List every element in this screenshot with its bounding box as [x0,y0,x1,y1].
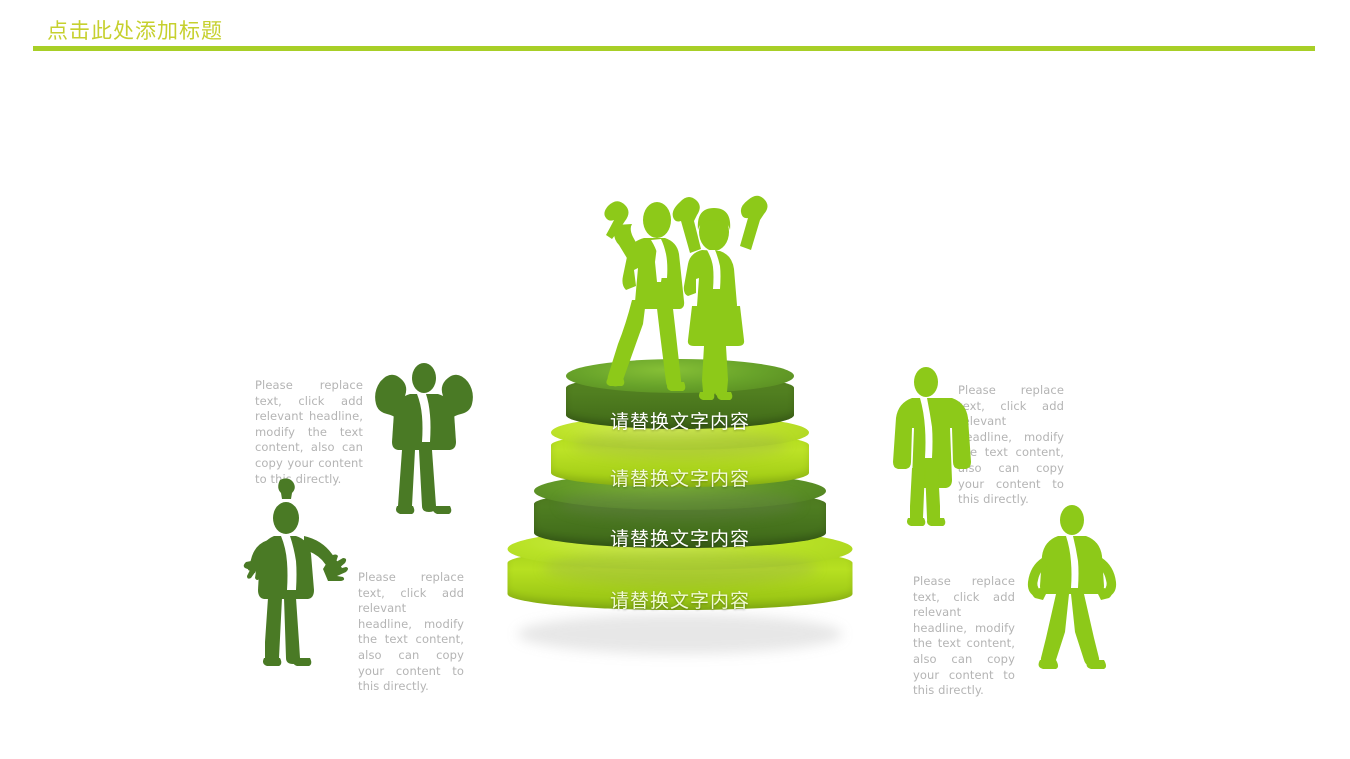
description-text-top-right[interactable]: Please replace text, click add relevant … [958,383,1064,508]
header-underline-rule [33,46,1315,51]
slide-header: 点击此处添加标题 [0,0,1350,60]
tier-shadow [559,488,802,520]
hands-on-hips-man-icon [1026,504,1118,680]
flexing-man-icon [372,356,476,516]
cake-tier-lower-middle-label: 请替换文字内容 [534,524,826,551]
cake-tier-top-label: 请替换文字内容 [566,407,794,434]
tier-shadow [518,614,842,654]
cake-tier-upper-middle-label: 请替换文字内容 [551,464,809,491]
celebrating-people-icon [594,178,774,404]
layered-cake-diagram: 请替换文字内容 请替换文字内容 请替换文字内容 请替换文字内容 [500,360,860,660]
tier-shadow [543,550,817,586]
standing-man-icon [886,364,966,528]
description-text-bottom-left[interactable]: Please replace text, click add relevant … [358,570,464,695]
man-with-idea-icon [242,478,356,673]
description-text-top-left[interactable]: Please replace text, click add relevant … [255,378,363,487]
page-title: 点击此处添加标题 [47,19,223,43]
cake-tier-bottom-label: 请替换文字内容 [508,586,853,613]
description-text-bottom-right[interactable]: Please replace text, click add relevant … [913,574,1015,699]
